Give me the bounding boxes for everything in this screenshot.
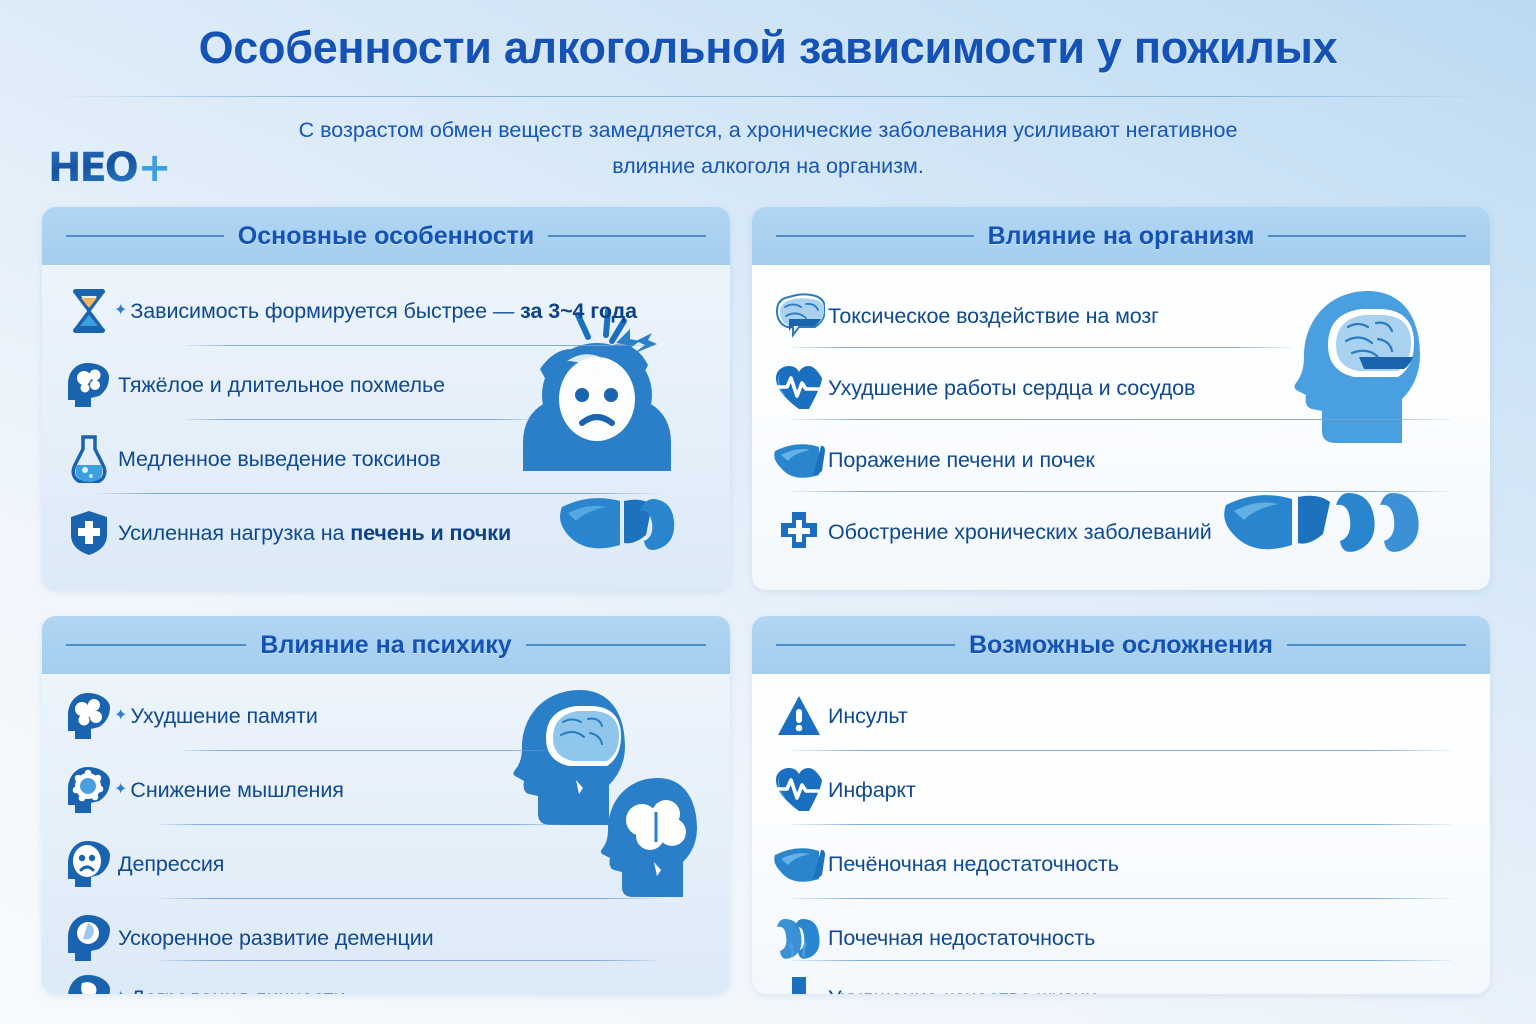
list-item-label: Ухудшение памяти [130, 704, 317, 729]
card-body: ✦ Ухудшение памяти ✦ [42, 674, 730, 994]
bullet-marker-icon: ✦ [114, 782, 127, 798]
list-item[interactable]: Печёночная недостаточность [752, 836, 1490, 892]
hourglass-icon [60, 283, 118, 339]
header-rule-left [776, 644, 955, 646]
list-item[interactable]: Поражение печени и почек [752, 431, 1490, 489]
card-title: Влияние на организм [988, 222, 1255, 251]
header-rule-right [548, 235, 706, 237]
shield-cross-icon [60, 505, 118, 561]
head-sad-face-icon [60, 836, 118, 892]
list-item-label: Депрессия [118, 852, 224, 877]
header-rule-right [526, 644, 706, 646]
list-item[interactable]: ✦ Ухудшение памяти [42, 688, 730, 744]
head-thinking-icon [60, 762, 118, 818]
list-item[interactable]: Депрессия [42, 836, 730, 892]
card-body: ✦ Зависимость формируется быстрее — за 3… [42, 265, 730, 590]
liver-icon [770, 432, 828, 488]
list-item-label: Поражение печени и почек [828, 448, 1095, 473]
row-divider [792, 419, 1452, 420]
page-title: Особенности алкогольной зависимости у по… [0, 22, 1536, 74]
list-item[interactable]: ✦ Зависимость формируется быстрее — за 3… [42, 283, 730, 339]
row-divider [160, 824, 565, 825]
heart-pulse-icon [770, 360, 828, 416]
down-arrow-icon [770, 970, 828, 994]
row-divider [792, 824, 1452, 825]
card-header: Основные особенности [42, 207, 730, 265]
list-item-label: Инфаркт [828, 778, 916, 803]
list-item[interactable]: Ухудшение работы сердца и сосудов [752, 359, 1490, 417]
row-divider [187, 419, 537, 420]
list-item[interactable]: Почечная недостаточность [752, 910, 1490, 966]
list-item-label: Инсульт [828, 704, 908, 729]
head-hangover-icon [60, 357, 118, 413]
list-item[interactable]: Инсульт [752, 688, 1490, 744]
bullet-marker-icon: ✦ [114, 303, 127, 319]
logo-text: НЕО [48, 148, 137, 188]
card-title: Основные особенности [238, 222, 535, 251]
list-item-label: Медленное выведение токсинов [118, 447, 441, 472]
header-rule-left [776, 235, 974, 237]
list-item[interactable]: Ускоренное развитие деменции [42, 910, 730, 966]
header-rule-left [66, 644, 246, 646]
row-divider [160, 898, 660, 899]
head-degradation-icon [60, 970, 118, 994]
list-item[interactable]: ✦ Снижение мышления [42, 762, 730, 818]
logo-plus-icon: + [138, 148, 170, 188]
list-item-label: Ухудшение качества жизни [828, 986, 1097, 995]
list-item[interactable]: ✦ Деградация личности [42, 970, 730, 994]
header-rule-left [66, 235, 224, 237]
row-divider [182, 750, 552, 751]
list-item[interactable]: Тяжёлое и длительное похмелье [42, 357, 730, 413]
row-divider [792, 960, 1452, 961]
heart-pulse-icon [770, 762, 828, 818]
card-header: Влияние на организм [752, 207, 1490, 265]
infographic-page: Особенности алкогольной зависимости у по… [0, 0, 1536, 1024]
row-divider [792, 491, 1452, 492]
card-body: Токсическое воздействие на мозг Ухудшени… [752, 265, 1490, 590]
kidneys-icon [770, 910, 828, 966]
card-vozmozhnye-oslozhneniya: Возможные осложнения Инсульт [752, 616, 1490, 994]
list-item[interactable]: Токсическое воздействие на мозг [752, 287, 1490, 345]
card-vliyanie-na-psihiku: Влияние на психику [42, 616, 730, 994]
card-header: Возможные осложнения [752, 616, 1490, 674]
card-title: Возможные осложнения [969, 631, 1273, 660]
row-divider [160, 960, 660, 961]
list-item-label: Обострение хронических заболеваний [828, 520, 1212, 545]
bullet-marker-icon: ✦ [114, 990, 127, 994]
list-item-label: Токсическое воздействие на мозг [828, 304, 1159, 329]
card-osnovnye-osobennosti: Основные особенности [42, 207, 730, 590]
warning-triangle-icon [770, 688, 828, 744]
cross-medical-icon [770, 504, 828, 560]
header-rule-right [1268, 235, 1466, 237]
list-item-label: Усиленная нагрузка на печень и почки [118, 521, 511, 546]
list-item[interactable]: Обострение хронических заболеваний [752, 503, 1490, 561]
card-body: Инсульт Инфаркт [752, 674, 1490, 994]
list-item-label: Ускоренное развитие деменции [118, 926, 434, 951]
header-divider [46, 96, 1490, 97]
list-item-label: Тяжёлое и длительное похмелье [118, 373, 445, 398]
list-item[interactable]: Ухудшение качества жизни [752, 970, 1490, 994]
list-item[interactable]: Усиленная нагрузка на печень и почки [42, 505, 730, 561]
head-memory-icon [60, 688, 118, 744]
row-divider [187, 345, 657, 346]
list-item-label: Ухудшение работы сердца и сосудов [828, 376, 1195, 401]
list-item-label: Снижение мышления [130, 778, 343, 803]
flask-icon [60, 431, 118, 487]
card-header: Влияние на психику [42, 616, 730, 674]
list-item[interactable]: Медленное выведение токсинов [42, 431, 730, 487]
row-divider [792, 898, 1452, 899]
brand-logo[interactable]: НЕО + [48, 148, 169, 188]
list-item-label: Почечная недостаточность [828, 926, 1095, 951]
card-title: Влияние на психику [260, 631, 511, 660]
page-subtitle: С возрастом обмен веществ замедляется, а… [255, 112, 1281, 184]
header-rule-right [1287, 644, 1466, 646]
card-vliyanie-na-organizm: Влияние на организм [752, 207, 1490, 590]
head-dementia-icon [60, 910, 118, 966]
list-item-label: Зависимость формируется быстрее — за 3~4… [130, 299, 637, 324]
bullet-marker-icon: ✦ [114, 708, 127, 724]
liver-icon [770, 836, 828, 892]
row-divider [792, 750, 1452, 751]
list-item-label: Деградация личности [130, 986, 345, 995]
brain-icon [770, 288, 828, 344]
list-item-label: Печёночная недостаточность [828, 852, 1119, 877]
row-divider [97, 493, 657, 494]
row-divider [792, 347, 1292, 348]
list-item[interactable]: Инфаркт [752, 762, 1490, 818]
